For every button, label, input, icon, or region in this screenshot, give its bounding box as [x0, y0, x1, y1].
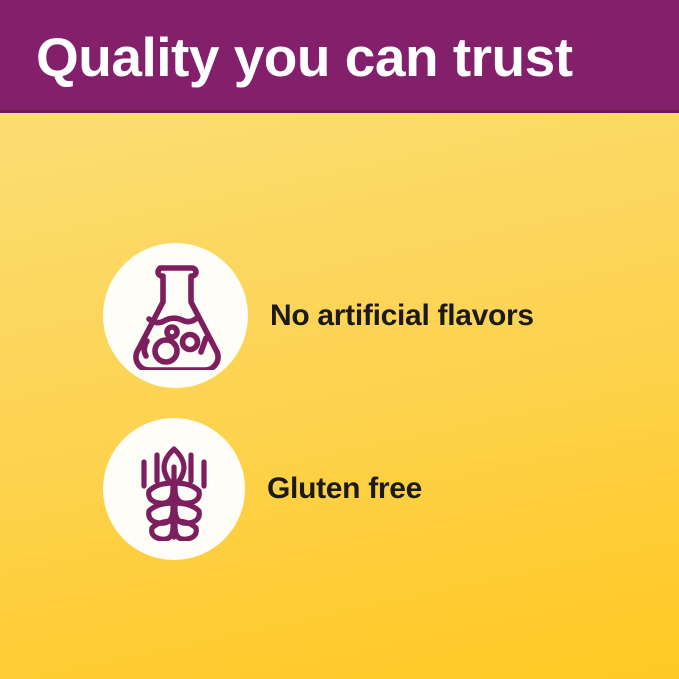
promo-banner: Quality you can trust [0, 0, 679, 679]
header-underline-divider [0, 110, 679, 113]
feature-item-gluten-free: Gluten free [103, 418, 422, 560]
page-title: Quality you can trust [36, 22, 656, 92]
feature-item-no-artificial-flavors: No artificial flavors [103, 243, 534, 388]
flask-icon [128, 262, 224, 370]
feature-label: Gluten free [267, 472, 422, 506]
icon-badge [103, 418, 245, 560]
icon-badge [103, 243, 248, 388]
wheat-icon [128, 437, 220, 541]
feature-label: No artificial flavors [270, 299, 534, 333]
